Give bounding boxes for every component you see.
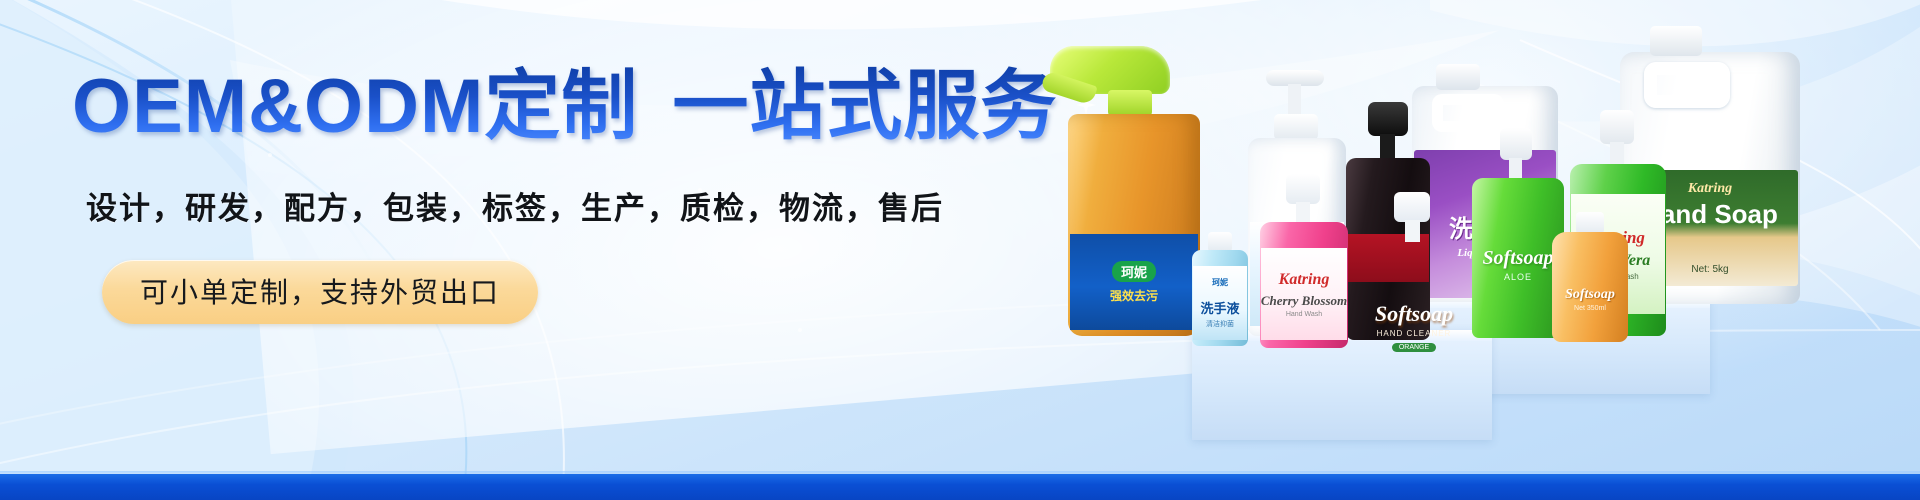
softsoap-pump-head (1394, 192, 1430, 222)
white-pump-stem (1288, 84, 1301, 118)
spray-bottle-brand: 珂妮 (1112, 261, 1156, 282)
cherry-pump-neck (1296, 202, 1310, 224)
black-pump-head (1368, 102, 1408, 136)
sanitizer-brand: 珂妮 (1212, 277, 1228, 288)
service-list-subtitle: 设计，研发，配方，包装，标签，生产，质检，物流，售后 (86, 183, 1072, 228)
jerrycan-handle (1644, 62, 1730, 108)
sanitizer-product-name: 洗手液 (1200, 298, 1239, 317)
sparkle-dot (798, 328, 802, 332)
small-orange-brand: Softsoap (1565, 287, 1615, 303)
softsoap-variant: HAND CLEANER (1377, 329, 1452, 338)
purple-can-handle (1432, 94, 1504, 132)
black-pump-neck (1380, 134, 1395, 160)
sanitizer-label: 珂妮 洗手液 清洁抑菌 (1193, 266, 1247, 340)
jerrycan-brand: Katring (1688, 181, 1732, 197)
aloe-pump-neck (1610, 142, 1624, 166)
product-showcase: Katring Hand Soap Net: 5kg 珂妮 洗手液 Liquid… (960, 0, 1920, 500)
bottom-accent-bar (0, 474, 1920, 500)
aloe-pump-head (1600, 110, 1634, 144)
headline-part-1: OEM&ODM定制 (72, 64, 638, 149)
cherry-brand: Katring (1279, 271, 1330, 289)
cherry-label: Katring Cherry Blossom Hand Wash (1261, 248, 1347, 340)
green-softsoap-pump-bottle: Softsoap ALOE (1472, 166, 1564, 338)
cherry-pump-head (1286, 174, 1320, 204)
copy-block: OEM&ODM定制一站式服务 设计，研发，配方，包装，标签，生产，质检，物流，售… (72, 64, 1072, 324)
green-softsoap-pump-head (1500, 128, 1532, 160)
softsoap-scent-badge: ORANGE (1392, 343, 1436, 352)
page-title: OEM&ODM定制一站式服务 (72, 64, 1072, 149)
trigger-spray-bottle: 珂妮 强效去污 (1068, 120, 1200, 336)
sanitizer-variant: 清洁抑菌 (1206, 319, 1234, 329)
spray-bottle-label: 珂妮 强效去污 (1070, 234, 1198, 330)
green-softsoap-neck (1509, 158, 1522, 180)
cherry-blossom-pump-bottle: Katring Cherry Blossom Hand Wash (1260, 214, 1348, 348)
purple-can-cap (1436, 64, 1480, 90)
small-orange-label: Softsoap Net 350ml (1553, 268, 1627, 330)
softsoap-orange-pump-bottle: Softsoap HAND CLEANER ORANGE (1364, 232, 1464, 374)
sanitizer-cap (1208, 232, 1232, 252)
blue-hand-sanitizer-bottle: 珂妮 洗手液 清洁抑菌 (1192, 250, 1248, 346)
green-softsoap-variant: ALOE (1504, 272, 1532, 282)
promo-banner: OEM&ODM定制一站式服务 设计，研发，配方，包装，标签，生产，质检，物流，售… (0, 0, 1920, 500)
white-pump-collar (1274, 114, 1318, 140)
small-orange-softsoap-bottle: Softsoap Net 350ml (1552, 232, 1628, 342)
green-softsoap-brand: Softsoap (1482, 247, 1553, 270)
jerrycan-cap (1650, 26, 1702, 56)
spray-collar (1108, 90, 1152, 116)
status-badge: 可小单定制，支持外贸出口 (102, 260, 538, 324)
green-softsoap-label: Softsoap ALOE (1473, 212, 1563, 316)
cherry-subtitle: Hand Wash (1286, 311, 1322, 318)
small-orange-cap (1576, 212, 1604, 234)
softsoap-pump-neck (1405, 220, 1420, 242)
softsoap-brand: Softsoap (1375, 301, 1453, 327)
small-orange-net: Net 350ml (1574, 305, 1606, 312)
jerrycan-net-weight: Net: 5kg (1691, 264, 1728, 275)
spray-bottle-variant: 强效去污 (1110, 287, 1158, 304)
softsoap-label: Softsoap HAND CLEANER ORANGE (1365, 280, 1463, 372)
cherry-product-name: Cherry Blossom (1261, 293, 1347, 309)
